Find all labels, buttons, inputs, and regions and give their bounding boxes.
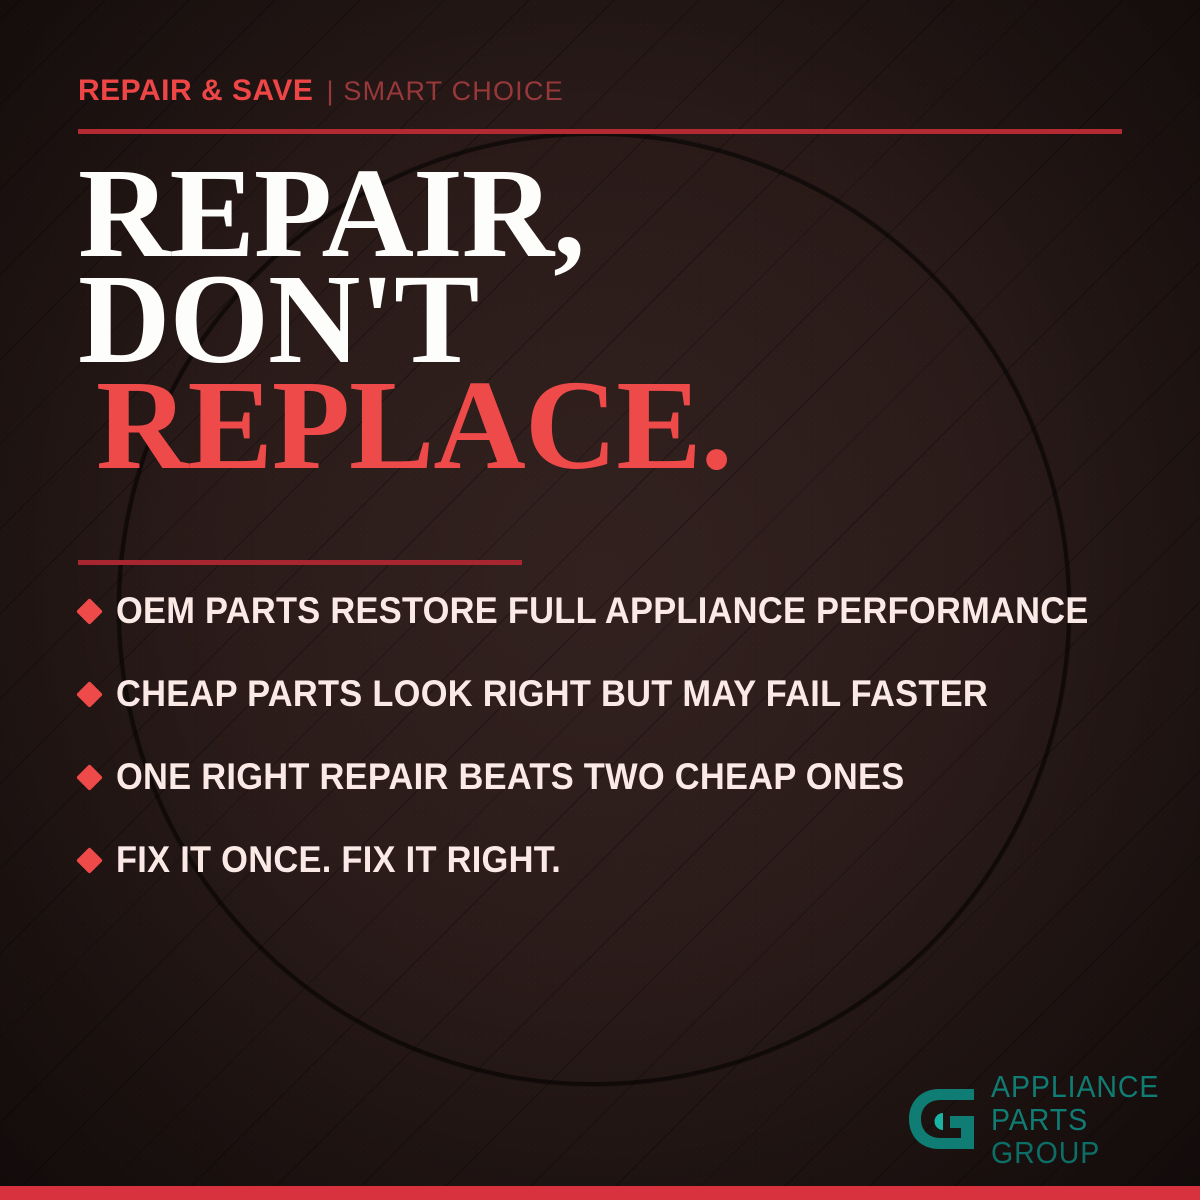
header-divider-rule	[78, 129, 1122, 134]
eyebrow-main-label: REPAIR & SAVE	[78, 74, 313, 108]
poster-content: REPAIR & SAVE | SMART CHOICE REPAIR, DON…	[0, 0, 1200, 1200]
list-item-label: ONE RIGHT REPAIR BEATS TWO CHEAP ONES	[116, 757, 904, 797]
eyebrow: REPAIR & SAVE | SMART CHOICE	[78, 74, 564, 108]
brand-logo-line-3: GROUP	[991, 1137, 1159, 1168]
diamond-icon	[76, 764, 103, 791]
eyebrow-sub-label: | SMART CHOICE	[326, 76, 563, 107]
list-item: ONE RIGHT REPAIR BEATS TWO CHEAP ONES	[80, 754, 1160, 800]
list-item-label: FIX IT ONCE. FIX IT RIGHT.	[116, 840, 561, 880]
headline: REPAIR, DON'T REPLACE.	[78, 160, 732, 478]
brand-logo-wordmark: APPLIANCE PARTS GROUP	[991, 1071, 1174, 1170]
list-item: FIX IT ONCE. FIX IT RIGHT.	[80, 837, 1160, 883]
eyebrow-separator: |	[326, 76, 334, 106]
bottom-accent-bar	[0, 1186, 1200, 1200]
appliance-parts-group-g-mark-icon	[905, 1085, 977, 1157]
list-item-label: CHEAP PARTS LOOK RIGHT BUT MAY FAIL FAST…	[116, 674, 988, 714]
diamond-icon	[76, 681, 103, 708]
diamond-icon	[76, 598, 103, 625]
headline-line-3: REPLACE.	[78, 372, 732, 478]
brand-logo-line-1: APPLIANCE	[991, 1071, 1159, 1102]
diamond-icon	[76, 847, 103, 874]
list-item: OEM PARTS RESTORE FULL APPLIANCE PERFORM…	[80, 588, 1160, 634]
bullets-divider-rule	[78, 560, 522, 565]
list-item: CHEAP PARTS LOOK RIGHT BUT MAY FAIL FAST…	[80, 671, 1160, 717]
brand-logo: APPLIANCE PARTS GROUP	[905, 1071, 1174, 1170]
brand-logo-line-2: PARTS	[991, 1104, 1159, 1135]
poster-canvas: REPAIR & SAVE | SMART CHOICE REPAIR, DON…	[0, 0, 1200, 1200]
list-item-label: OEM PARTS RESTORE FULL APPLIANCE PERFORM…	[116, 591, 1089, 631]
benefits-list: OEM PARTS RESTORE FULL APPLIANCE PERFORM…	[80, 588, 1160, 920]
eyebrow-sub-text: SMART CHOICE	[343, 76, 563, 106]
